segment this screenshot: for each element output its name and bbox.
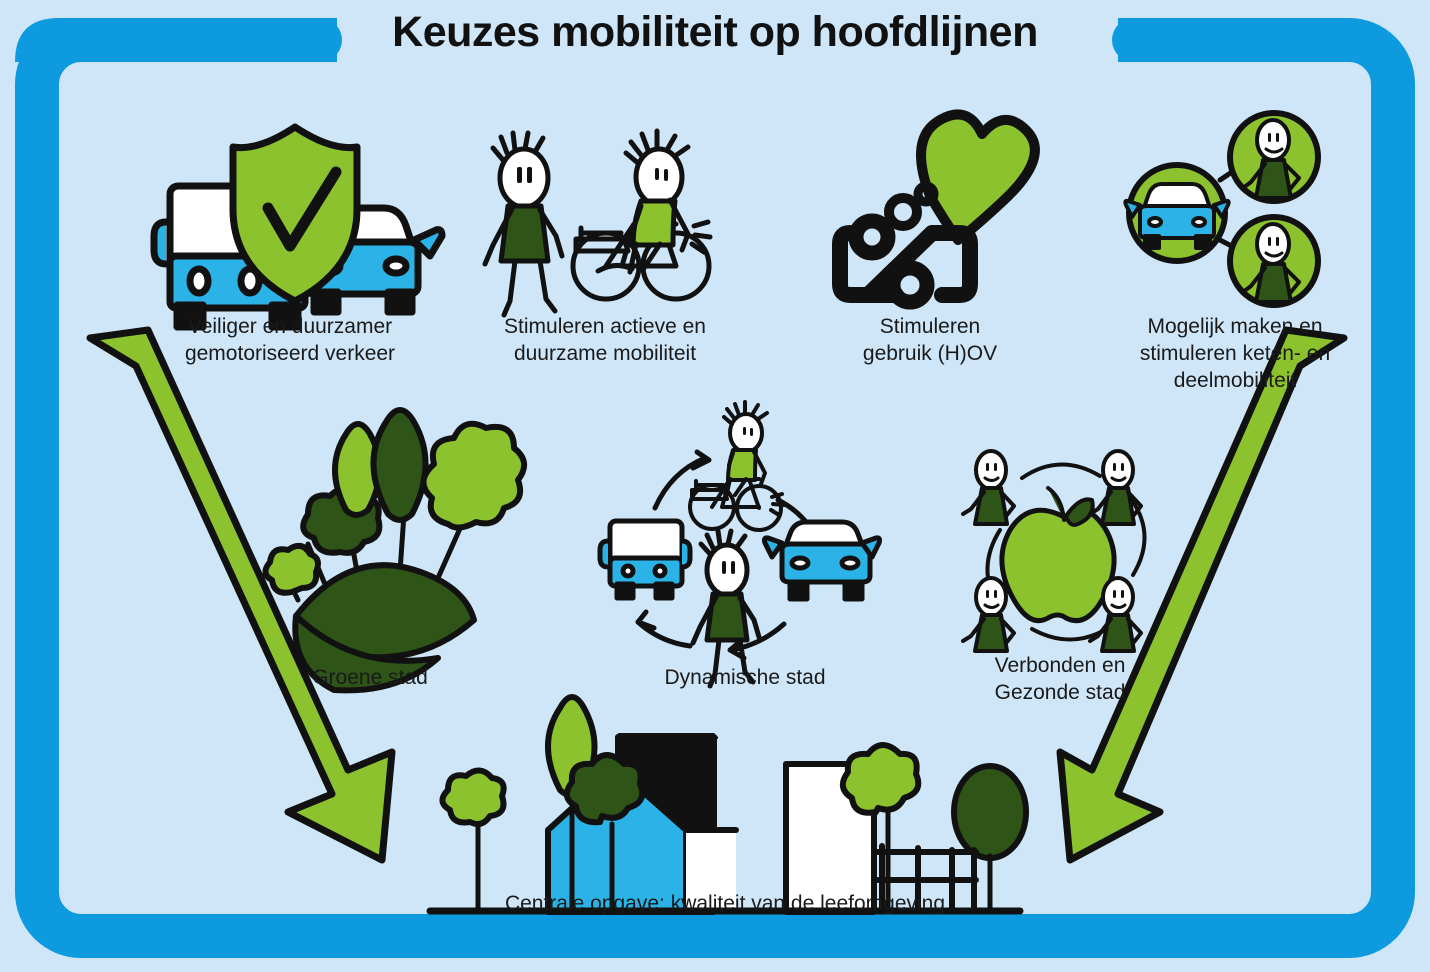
infographic-canvas: Keuzes mobiliteit op hoofdlijnen [0, 0, 1430, 972]
city-skyline-icon [0, 0, 1430, 972]
